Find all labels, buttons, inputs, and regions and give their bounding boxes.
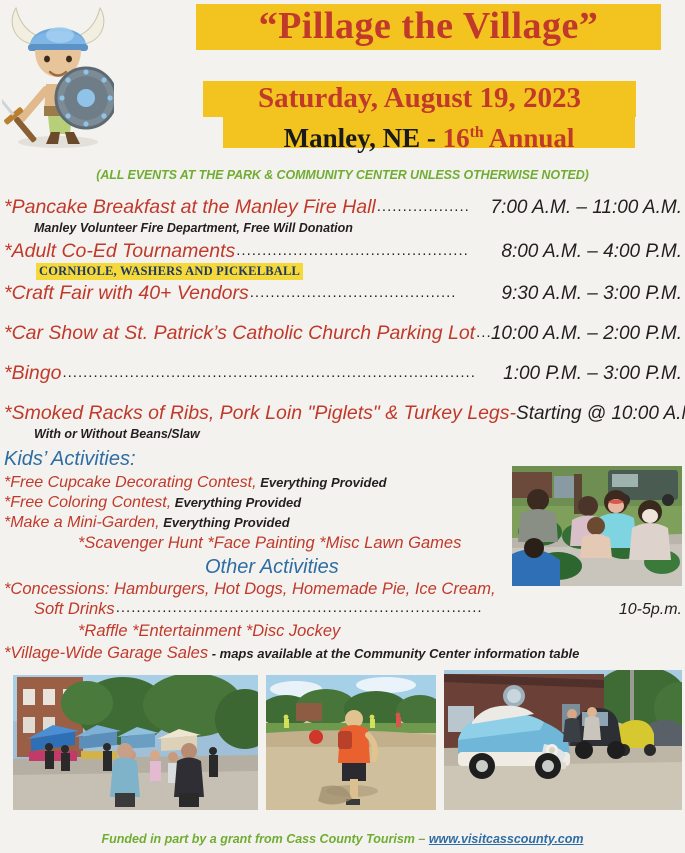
kids-activity-item: *Make a Mini-Garden, Everything Provided — [4, 514, 290, 532]
leader-dots: .................. — [377, 198, 490, 215]
kids-activity-name: *Make a Mini-Garden, — [4, 514, 160, 531]
page-title: “Pillage the Village” — [196, 2, 661, 50]
kids-activity-name: *Free Coloring Contest, — [4, 494, 171, 511]
event-time: 1:00 P.M. – 3:00 P.M. — [503, 363, 682, 385]
leader-dots: ........................................… — [116, 599, 618, 616]
other-activities-heading: Other Activities — [205, 556, 339, 579]
event-row-smoked-meats: *Smoked Racks of Ribs, Pork Loin "Piglet… — [4, 402, 682, 425]
concessions-line-1: *Concessions: Hamburgers, Hot Dogs, Home… — [4, 580, 496, 599]
event-place: Manley, NE - 16th Annual — [223, 115, 635, 150]
kids-extra-activities-text: *Scavenger Hunt *Face Painting *Misc Law… — [78, 534, 461, 552]
concessions-hours: 10-5p.m. — [619, 601, 682, 619]
event-name: *Bingo — [4, 362, 61, 385]
event-time: Starting @ 10:00 A.M. — [516, 403, 685, 425]
place-ordinal-suffix: th — [470, 124, 484, 141]
leader-dots: ........................................… — [236, 242, 500, 259]
event-date: Saturday, August 19, 2023 — [203, 79, 636, 117]
flyer-page: “Pillage the Village” Saturday, August 1… — [0, 0, 685, 853]
photo-craft-fair — [13, 675, 258, 810]
event-row-bingo: *Bingo .................................… — [4, 362, 682, 385]
event-time: 9:30 A.M. – 3:00 P.M. — [501, 283, 682, 305]
place-city: Manley, NE - — [284, 123, 443, 153]
other-extra-activities: *Raffle *Entertainment *Disc Jockey — [78, 622, 340, 641]
place-annual: Annual — [484, 123, 575, 153]
photo-kickball — [266, 675, 436, 810]
footer-text: Funded in part by a grant from Cass Coun… — [101, 832, 428, 846]
viking-mascot-icon — [2, 2, 114, 150]
kids-activity-name: *Free Cupcake Decorating Contest, — [4, 474, 257, 491]
footer-url[interactable]: www.visitcasscounty.com — [429, 832, 584, 846]
event-name: *Adult Co-Ed Tournaments — [4, 240, 235, 263]
concessions-soft-drinks-label: Soft Drinks — [34, 600, 115, 619]
kids-activity-note: Everything Provided — [160, 515, 290, 530]
kids-activity-item: *Free Coloring Contest, Everything Provi… — [4, 494, 301, 512]
event-row-pancake-breakfast: *Pancake Breakfast at the Manley Fire Ha… — [4, 196, 682, 219]
event-time: 10:00 A.M. – 2:00 P.M. — [491, 323, 682, 345]
photo-gardening-kids — [512, 466, 682, 586]
leader-dots: ........................................ — [250, 284, 501, 301]
tournament-games-highlight: CORNHOLE, WASHERS AND PICKELBALL — [36, 263, 303, 280]
event-name: *Car Show at St. Patrick’s Catholic Chur… — [4, 322, 475, 345]
other-extra-activities-text: *Raffle *Entertainment *Disc Jockey — [78, 622, 340, 640]
garage-sales-title: *Village-Wide Garage Sales — [4, 644, 208, 662]
event-row-car-show: *Car Show at St. Patrick’s Catholic Chur… — [4, 322, 682, 345]
kids-extra-activities: *Scavenger Hunt *Face Painting *Misc Law… — [78, 534, 461, 553]
concessions-text: *Concessions: Hamburgers, Hot Dogs, Home… — [4, 580, 496, 598]
kids-activity-note: Everything Provided — [257, 475, 387, 490]
footer-funding-note: Funded in part by a grant from Cass Coun… — [0, 832, 685, 846]
event-subnote-pancake: Manley Volunteer Fire Department, Free W… — [34, 221, 353, 235]
leader-dots: .... — [476, 324, 490, 341]
kids-activities-heading: Kids’ Activities: — [4, 448, 136, 471]
event-name: *Pancake Breakfast at the Manley Fire Ha… — [4, 196, 376, 219]
leader-dots: ........................................… — [62, 364, 502, 381]
concessions-line-2: Soft Drinks ............................… — [34, 600, 682, 619]
garage-sales-note: - maps available at the Community Center… — [208, 646, 579, 661]
event-time: 7:00 A.M. – 11:00 A.M. — [490, 197, 682, 219]
photo-car-show — [444, 670, 682, 810]
event-row-adult-tournaments: *Adult Co-Ed Tournaments ...............… — [4, 240, 682, 263]
venue-notice: (ALL EVENTS AT THE PARK & COMMUNITY CENT… — [0, 168, 685, 182]
kids-activity-item: *Free Cupcake Decorating Contest, Everyt… — [4, 474, 387, 492]
event-name: *Smoked Racks of Ribs, Pork Loin "Piglet… — [4, 402, 516, 425]
kids-activity-note: Everything Provided — [171, 495, 301, 510]
event-time: 8:00 A.M. – 4:00 P.M. — [501, 241, 682, 263]
place-ordinal-number: 16 — [443, 123, 470, 153]
event-name: *Craft Fair with 40+ Vendors — [4, 282, 249, 305]
event-subnote-smoked-meats: With or Without Beans/Slaw — [34, 427, 200, 441]
event-row-craft-fair: *Craft Fair with 40+ Vendors ...........… — [4, 282, 682, 305]
garage-sales-line: *Village-Wide Garage Sales - maps availa… — [4, 644, 579, 663]
